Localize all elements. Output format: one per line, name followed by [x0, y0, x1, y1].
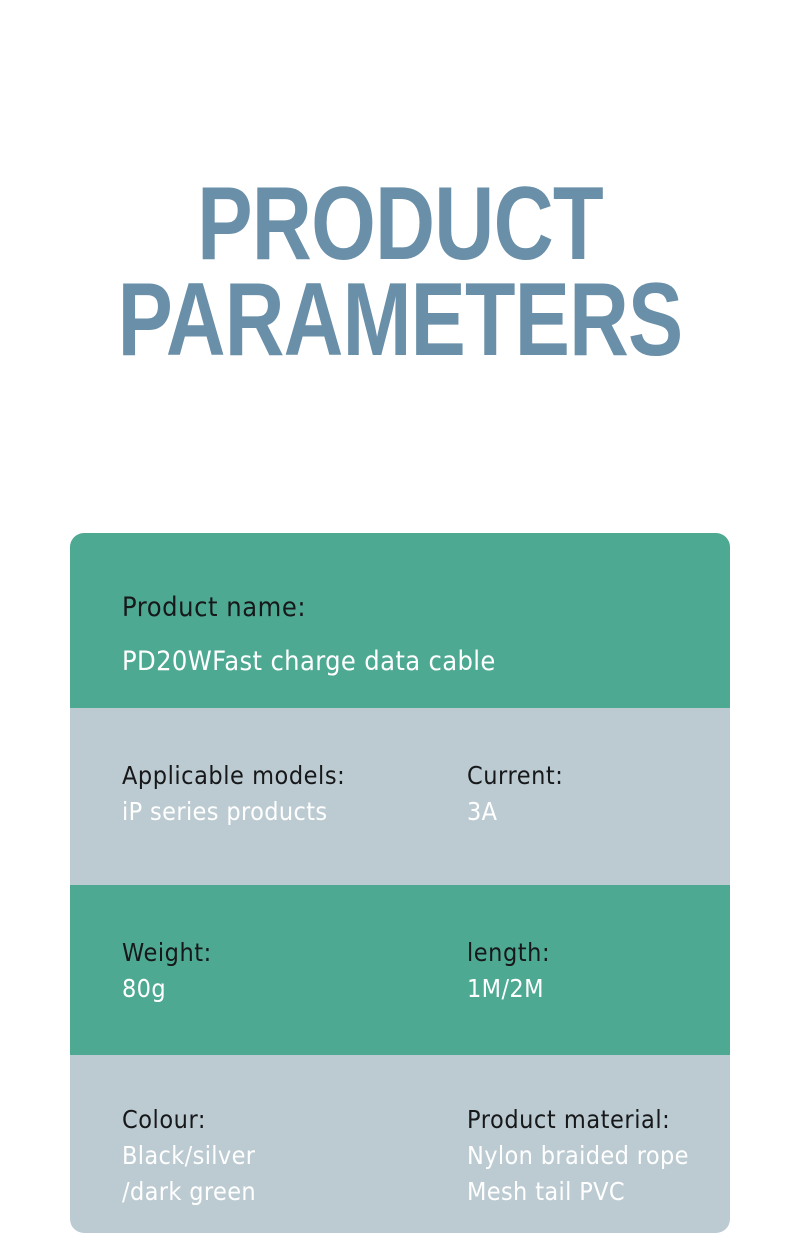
spec-cell-current: Current: 3A — [467, 708, 727, 885]
spec-value-colour-line-2: /dark green — [122, 1174, 428, 1210]
spec-row-weight-length: Weight: 80g length: 1M/2M — [70, 885, 730, 1055]
spec-row-models-current: Applicable models: iP series products Cu… — [70, 708, 730, 885]
spec-row-product-name: Product name: PD20WFast charge data cabl… — [70, 533, 730, 708]
spec-cell-product-material: Product material: Nylon braided rope Mes… — [467, 1055, 727, 1233]
spec-cell-length: length: 1M/2M — [467, 885, 727, 1055]
spec-value-length: 1M/2M — [467, 971, 701, 1007]
spec-table: Product name: PD20WFast charge data cabl… — [70, 533, 730, 1233]
spec-cell-product-name: Product name: PD20WFast charge data cabl… — [122, 533, 722, 708]
spec-value-product-name: PD20WFast charge data cable — [122, 635, 662, 689]
spec-label-weight: Weight: — [122, 935, 428, 971]
spec-value-applicable-models: iP series products — [122, 794, 428, 830]
spec-cell-colour: Colour: Black/silver /dark green — [122, 1055, 462, 1233]
page-title-line-1: PRODUCT — [80, 176, 720, 272]
spec-cell-weight: Weight: 80g — [122, 885, 462, 1055]
spec-value-product-material-line-2: Mesh tail PVC — [467, 1174, 701, 1210]
spec-row-colour-material: Colour: Black/silver /dark green Product… — [70, 1055, 730, 1233]
spec-label-product-name: Product name: — [122, 581, 662, 635]
page-title: PRODUCT PARAMETERS — [0, 176, 800, 368]
spec-label-colour: Colour: — [122, 1102, 428, 1138]
spec-value-colour-line-1: Black/silver — [122, 1138, 428, 1174]
spec-cell-applicable-models: Applicable models: iP series products — [122, 708, 462, 885]
spec-value-current: 3A — [467, 794, 701, 830]
spec-value-weight: 80g — [122, 971, 428, 1007]
spec-label-current: Current: — [467, 758, 701, 794]
spec-value-product-material-line-1: Nylon braided rope — [467, 1138, 701, 1174]
product-parameters-page: PRODUCT PARAMETERS Product name: PD20WFa… — [0, 0, 800, 1254]
spec-label-applicable-models: Applicable models: — [122, 758, 428, 794]
page-title-line-2: PARAMETERS — [82, 272, 718, 368]
spec-label-product-material: Product material: — [467, 1102, 701, 1138]
spec-label-length: length: — [467, 935, 701, 971]
